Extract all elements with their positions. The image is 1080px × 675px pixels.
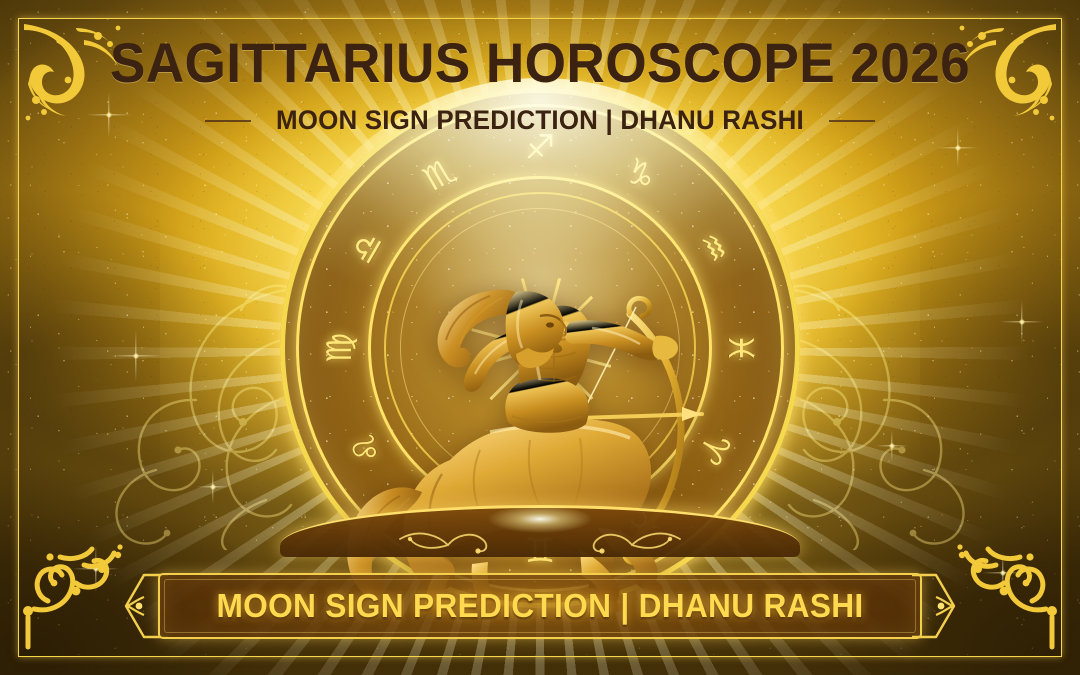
subtitle-rule-right [829,120,875,122]
bottom-banner: MOON SIGN PREDICTION | DHANU RASHI [130,573,950,639]
page-title: SAGITTARIUS HOROSCOPE 2026 [27,34,1053,92]
arrow-head [682,407,702,421]
sagittarius-centaur-archer [330,274,750,614]
pedestal-center-starburst [465,499,615,539]
subtitle-rule-left [205,120,251,122]
subtitle-row: MOON SIGN PREDICTION | DHANU RASHI [0,105,1080,136]
head [438,290,566,368]
page-subtitle: MOON SIGN PREDICTION | DHANU RASHI [276,105,804,136]
banner-text: MOON SIGN PREDICTION | DHANU RASHI [146,573,933,639]
pedestal-arch [280,505,800,557]
poster-header: SAGITTARIUS HOROSCOPE 2026 MOON SIGN PRE… [0,34,1080,136]
horoscope-poster: ♐♑♒♓♈♉♊♋♌♍♎♏ [0,0,1080,675]
